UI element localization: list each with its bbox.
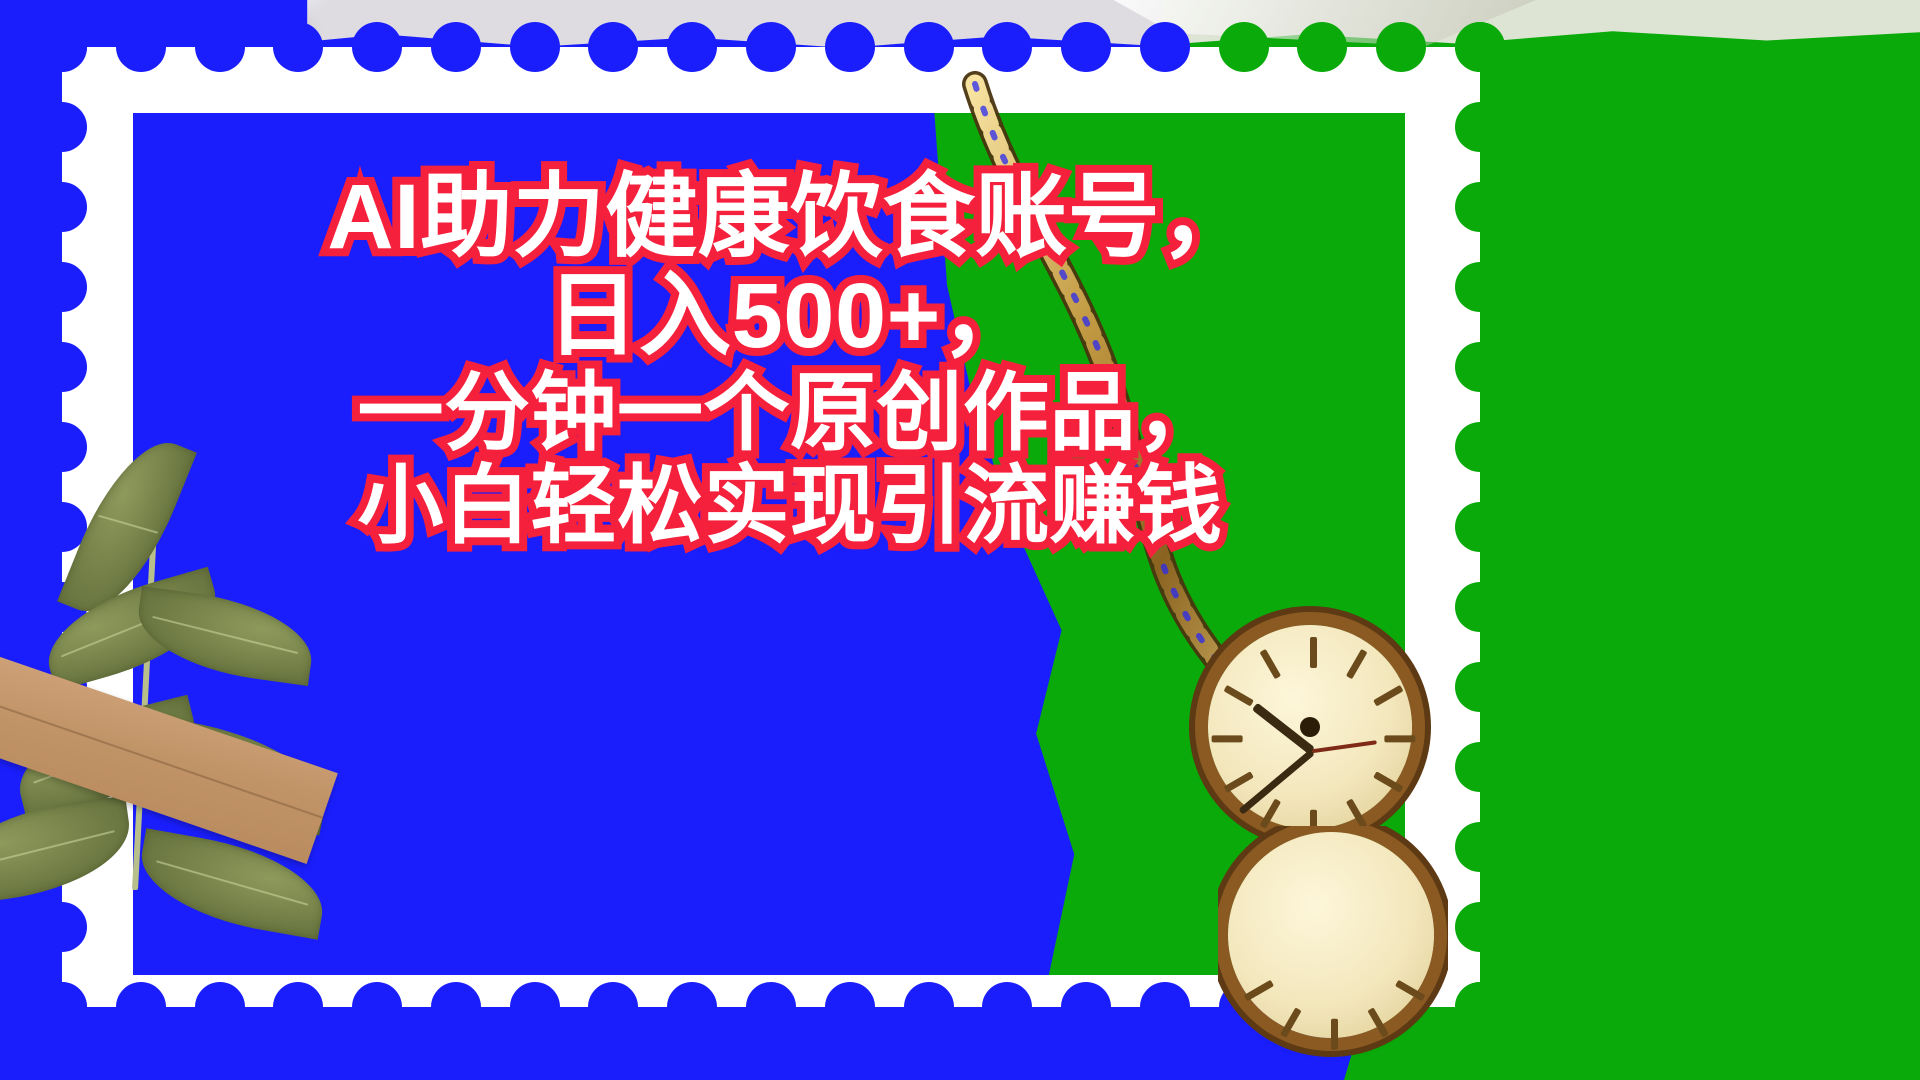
leaf: [0, 795, 137, 906]
stamp-perforation: [1455, 982, 1505, 1032]
stamp-perforation: [37, 182, 87, 232]
stamp-perforation: [1061, 982, 1111, 1032]
stamp-perforation: [37, 982, 87, 1032]
watch-second-hand: [1312, 740, 1377, 753]
watch-tick: [1310, 637, 1317, 668]
stamp-perforation: [1455, 262, 1505, 312]
stamp-perforation: [37, 262, 87, 312]
pocket-watch: [1195, 612, 1425, 842]
stamp-perforation: [1140, 982, 1190, 1032]
stamp-perforation: [1140, 22, 1190, 72]
watch-tick: [1373, 772, 1403, 793]
stamp-perforation: [1455, 902, 1505, 952]
watch-tick: [1346, 799, 1367, 829]
watch-tick: [1367, 1008, 1389, 1038]
stamp-perforation: [825, 22, 875, 72]
stamp-perforation: [1455, 182, 1505, 232]
stamp-perforation: [1219, 22, 1269, 72]
watch-tick: [1260, 799, 1281, 829]
stamp-perforation: [273, 22, 323, 72]
stamp-perforation: [1455, 342, 1505, 392]
stamp-perforation: [37, 102, 87, 152]
stamp-perforation: [1455, 822, 1505, 872]
stamp-perforation: [37, 22, 87, 72]
watch-tick: [1385, 736, 1416, 743]
stamp-perforation: [1455, 502, 1505, 552]
headline-line-3: 一分钟一个原创作品，: [240, 367, 1340, 460]
stamp-perforation: [1455, 22, 1505, 72]
stamp-perforation: [1455, 742, 1505, 792]
stamp-perforation: [825, 982, 875, 1032]
stamp-perforation: [1061, 22, 1111, 72]
leaf: [132, 586, 319, 686]
watch-tick: [1260, 649, 1281, 679]
watch-tick: [1280, 1008, 1302, 1038]
stamp-perforation: [273, 982, 323, 1032]
stamp-perforation: [510, 22, 560, 72]
watch-dial-partial: [1228, 832, 1434, 1038]
stamp-perforation: [667, 982, 717, 1032]
headline-line-1: AI助力健康饮食账号，: [240, 168, 1340, 267]
stamp-perforation: [904, 22, 954, 72]
thumbnail-canvas: AI助力健康饮食账号， 日入500+， 一分钟一个原创作品， 小白轻松实现引流赚…: [0, 0, 1920, 1080]
stamp-perforation: [431, 982, 481, 1032]
stamp-perforation: [1455, 102, 1505, 152]
stamp-perforation: [904, 982, 954, 1032]
stamp-perforation: [352, 982, 402, 1032]
stamp-perforation: [1455, 662, 1505, 712]
stamp-perforation: [1455, 582, 1505, 632]
watch-dial: [1208, 625, 1412, 829]
watch-tick: [1212, 736, 1243, 743]
stamp-perforation: [746, 22, 796, 72]
watch-tick: [1244, 980, 1274, 1002]
stamp-perforation: [431, 22, 481, 72]
stamp-perforation: [195, 22, 245, 72]
watch-tick: [1373, 685, 1403, 706]
stamp-perforation: [352, 22, 402, 72]
pocket-watch-partial: [1218, 826, 1448, 1076]
stamp-perforation: [37, 342, 87, 392]
stamp-perforation: [746, 982, 796, 1032]
stamp-perforation: [982, 982, 1032, 1032]
headline: AI助力健康饮食账号， 日入500+， 一分钟一个原创作品， 小白轻松实现引流赚…: [240, 168, 1340, 552]
stamp-perforation: [1376, 22, 1426, 72]
stamp-perforation: [667, 22, 717, 72]
stamp-perforation: [1455, 422, 1505, 472]
stamp-perforation: [195, 982, 245, 1032]
headline-line-2: 日入500+，: [240, 267, 1340, 366]
headline-line-4: 小白轻松实现引流赚钱: [240, 460, 1340, 553]
stamp-perforation: [510, 982, 560, 1032]
watch-tick: [1331, 1019, 1338, 1050]
watch-tick: [1224, 685, 1254, 706]
watch-tick: [1224, 772, 1254, 793]
watch-hub: [1300, 717, 1320, 737]
stamp-perforation: [116, 982, 166, 1032]
watch-tick: [1346, 649, 1367, 679]
stamp-perforation: [982, 22, 1032, 72]
watch-tick: [1395, 980, 1425, 1002]
stamp-perforation: [116, 22, 166, 72]
